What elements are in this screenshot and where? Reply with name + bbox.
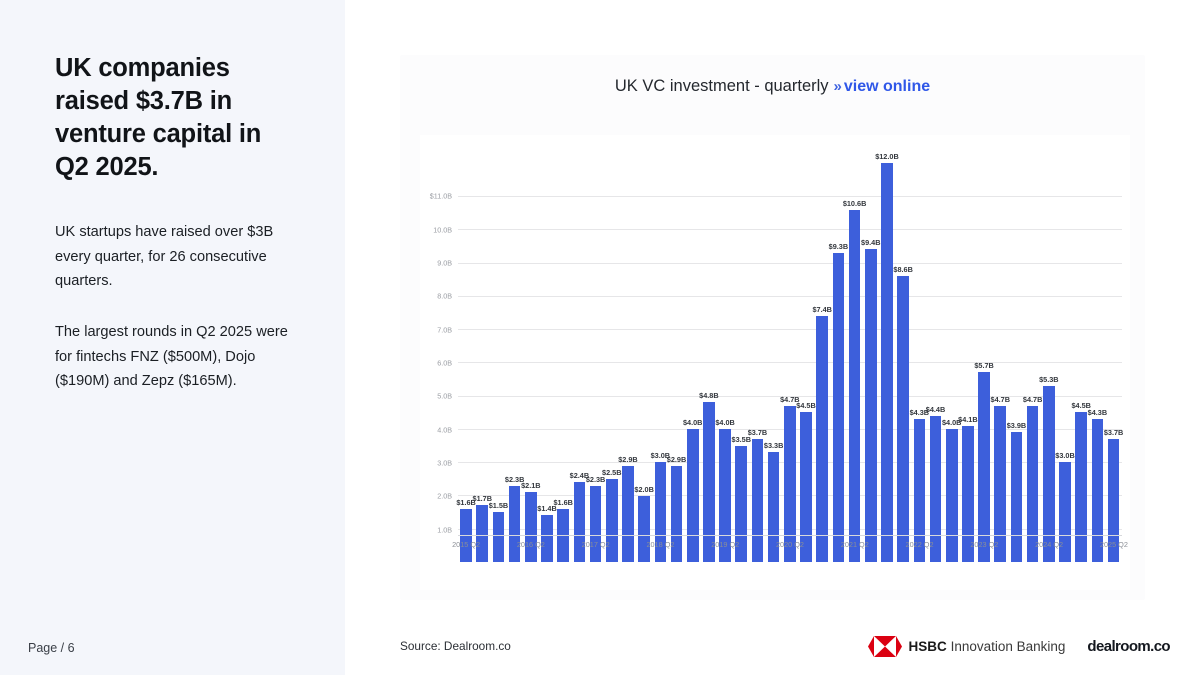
bar-slot: $2.4B bbox=[571, 143, 587, 562]
bar[interactable]: $8.6B bbox=[897, 276, 909, 562]
left-text-panel: UK companies raised $3.7B in venture cap… bbox=[0, 0, 345, 675]
bar-slot: $12.0B bbox=[879, 143, 895, 562]
y-axis-tick-label: 10.0B bbox=[433, 225, 452, 234]
x-axis-tick-label: 2017 Q2 bbox=[582, 540, 610, 549]
bar-value-label: $4.5B bbox=[796, 401, 815, 410]
bar-slot: $4.0B bbox=[717, 143, 733, 562]
bar-value-label: $9.4B bbox=[861, 238, 880, 247]
x-axis-tick-label: 2018 Q2 bbox=[646, 540, 674, 549]
bar-value-label: $5.3B bbox=[1039, 375, 1058, 384]
bar-slot: $3.7B bbox=[1106, 143, 1122, 562]
bar[interactable]: $10.6B bbox=[849, 210, 861, 562]
bar-value-label: $2.5B bbox=[602, 468, 621, 477]
footer-logos: HSBC Innovation Banking dealroom.co bbox=[868, 636, 1170, 657]
bar-value-label: $4.8B bbox=[699, 391, 718, 400]
bar-slot: $5.7B bbox=[976, 143, 992, 562]
bar-slot: $4.0B bbox=[685, 143, 701, 562]
bar-slot: $5.3B bbox=[1041, 143, 1057, 562]
y-axis-tick-label: 6.0B bbox=[437, 358, 452, 367]
chevron-right-icon: » bbox=[834, 78, 842, 95]
hsbc-tagline: Innovation Banking bbox=[951, 639, 1066, 654]
y-axis-tick-label: 7.0B bbox=[437, 325, 452, 334]
bar-slot: $4.4B bbox=[927, 143, 943, 562]
page-title: UK companies raised $3.7B in venture cap… bbox=[55, 52, 300, 184]
view-online-link[interactable]: view online bbox=[844, 78, 930, 95]
plot-area: $11.0B10.0B9.0B8.0B7.0B6.0B5.0B4.0B3.0B2… bbox=[458, 143, 1122, 562]
bar-slot: $4.7B bbox=[782, 143, 798, 562]
bar-value-label: $2.9B bbox=[618, 455, 637, 464]
slide: UK companies raised $3.7B in venture cap… bbox=[0, 0, 1200, 675]
bar-slot: $4.5B bbox=[1073, 143, 1089, 562]
x-axis-tick-label: 2015 Q2 bbox=[452, 540, 480, 549]
x-axis-ticks: 2015 Q22016 Q22017 Q22018 Q22019 Q22020 … bbox=[458, 536, 1122, 562]
x-axis-tick-label: 2024 Q2 bbox=[1035, 540, 1063, 549]
bar-value-label: $2.1B bbox=[521, 481, 540, 490]
bar-slot: $10.6B bbox=[847, 143, 863, 562]
bar-slot: $2.3B bbox=[507, 143, 523, 562]
bar-slot: $1.6B bbox=[555, 143, 571, 562]
x-axis-tick-label: 2023 Q2 bbox=[970, 540, 998, 549]
x-axis-tick-label: 2019 Q2 bbox=[711, 540, 739, 549]
chart-header: UK VC investment - quarterly»view online bbox=[400, 77, 1145, 96]
bar-slot: $7.4B bbox=[814, 143, 830, 562]
y-axis-tick-label: 8.0B bbox=[437, 292, 452, 301]
bar-slot: $4.3B bbox=[911, 143, 927, 562]
page-number: Page / 6 bbox=[28, 641, 75, 655]
bar-slot: $2.3B bbox=[588, 143, 604, 562]
bar-value-label: $4.7B bbox=[991, 395, 1010, 404]
bar-value-label: $1.6B bbox=[553, 498, 572, 507]
bar-slot: $4.5B bbox=[798, 143, 814, 562]
bar-series: $1.6B$1.7B$1.5B$2.3B$2.1B$1.4B$1.6B$2.4B… bbox=[458, 143, 1122, 562]
bar-slot: $3.3B bbox=[766, 143, 782, 562]
bar-value-label: $2.0B bbox=[634, 485, 653, 494]
bar-slot: $2.9B bbox=[620, 143, 636, 562]
bar-slot: $3.0B bbox=[1057, 143, 1073, 562]
plot-frame: $11.0B10.0B9.0B8.0B7.0B6.0B5.0B4.0B3.0B2… bbox=[420, 135, 1130, 590]
bar-value-label: $8.6B bbox=[893, 265, 912, 274]
bar[interactable]: $9.3B bbox=[833, 253, 845, 562]
bar-value-label: $3.3B bbox=[764, 441, 783, 450]
hsbc-wordmark: HSBC Innovation Banking bbox=[909, 639, 1066, 654]
bar-slot: $4.7B bbox=[992, 143, 1008, 562]
bar-value-label: $4.7B bbox=[1023, 395, 1042, 404]
y-axis-tick-label: 9.0B bbox=[437, 258, 452, 267]
bar-value-label: $1.5B bbox=[489, 501, 508, 510]
x-axis-tick-label: 2022 Q2 bbox=[906, 540, 934, 549]
dealroom-logo: dealroom.co bbox=[1087, 638, 1170, 655]
bar-slot: $8.6B bbox=[895, 143, 911, 562]
x-axis-tick-label: 2020 Q2 bbox=[776, 540, 804, 549]
bar-value-label: $4.0B bbox=[683, 418, 702, 427]
bar-slot: $4.8B bbox=[701, 143, 717, 562]
bar-slot: $4.0B bbox=[944, 143, 960, 562]
chart-card: UK VC investment - quarterly»view online… bbox=[400, 55, 1145, 600]
bar[interactable]: $9.4B bbox=[865, 249, 877, 562]
y-axis-tick-label: 3.0B bbox=[437, 458, 452, 467]
bar-slot: $3.7B bbox=[749, 143, 765, 562]
y-axis-tick-label: 5.0B bbox=[437, 392, 452, 401]
bar-value-label: $3.0B bbox=[1055, 451, 1074, 460]
bar-slot: $4.1B bbox=[960, 143, 976, 562]
y-axis-tick-label: $11.0B bbox=[430, 192, 452, 201]
bar-value-label: $4.0B bbox=[715, 418, 734, 427]
bar-slot: $3.9B bbox=[1008, 143, 1024, 562]
bar-slot: $2.5B bbox=[604, 143, 620, 562]
chart-title: UK VC investment - quarterly bbox=[615, 77, 829, 95]
x-axis-tick-label: 2025 Q2 bbox=[1100, 540, 1128, 549]
body-paragraph-2: The largest rounds in Q2 2025 were for f… bbox=[55, 320, 300, 394]
bar-slot: $4.7B bbox=[1025, 143, 1041, 562]
bar[interactable]: $7.4B bbox=[816, 316, 828, 562]
y-axis-tick-label: 4.0B bbox=[437, 425, 452, 434]
hsbc-logo: HSBC Innovation Banking bbox=[868, 636, 1066, 657]
bar-value-label: $9.3B bbox=[829, 242, 848, 251]
bar-slot: $1.7B bbox=[474, 143, 490, 562]
bar-value-label: $4.3B bbox=[1088, 408, 1107, 417]
chart-panel: UK VC investment - quarterly»view online… bbox=[345, 0, 1200, 675]
bar-slot: $3.5B bbox=[733, 143, 749, 562]
bar-value-label: $2.9B bbox=[667, 455, 686, 464]
y-axis-tick-label: 2.0B bbox=[437, 492, 452, 501]
bar-slot: $9.4B bbox=[863, 143, 879, 562]
bar-slot: $3.0B bbox=[652, 143, 668, 562]
bar-slot: $1.5B bbox=[490, 143, 506, 562]
bar-value-label: $3.7B bbox=[1104, 428, 1123, 437]
bar-value-label: $5.7B bbox=[974, 361, 993, 370]
bar-value-label: $4.1B bbox=[958, 415, 977, 424]
bar[interactable]: $12.0B bbox=[881, 163, 893, 562]
bar-value-label: $7.4B bbox=[812, 305, 831, 314]
bar[interactable]: $5.7B bbox=[978, 372, 990, 562]
bar-value-label: $3.7B bbox=[748, 428, 767, 437]
bar-slot: $2.9B bbox=[668, 143, 684, 562]
source-note: Source: Dealroom.co bbox=[400, 639, 511, 653]
bar-value-label: $4.4B bbox=[926, 405, 945, 414]
body-paragraph-1: UK startups have raised over $3B every q… bbox=[55, 220, 300, 294]
hsbc-hexagon-icon bbox=[868, 636, 902, 657]
y-axis-tick-label: 1.0B bbox=[437, 525, 452, 534]
bar-slot: $4.3B bbox=[1089, 143, 1105, 562]
bar-slot: $2.0B bbox=[636, 143, 652, 562]
x-axis-tick-label: 2016 Q2 bbox=[517, 540, 545, 549]
bar-value-label: $3.9B bbox=[1007, 421, 1026, 430]
hsbc-name: HSBC bbox=[909, 639, 947, 654]
bar-slot: $2.1B bbox=[523, 143, 539, 562]
x-axis-tick-label: 2021 Q2 bbox=[841, 540, 869, 549]
